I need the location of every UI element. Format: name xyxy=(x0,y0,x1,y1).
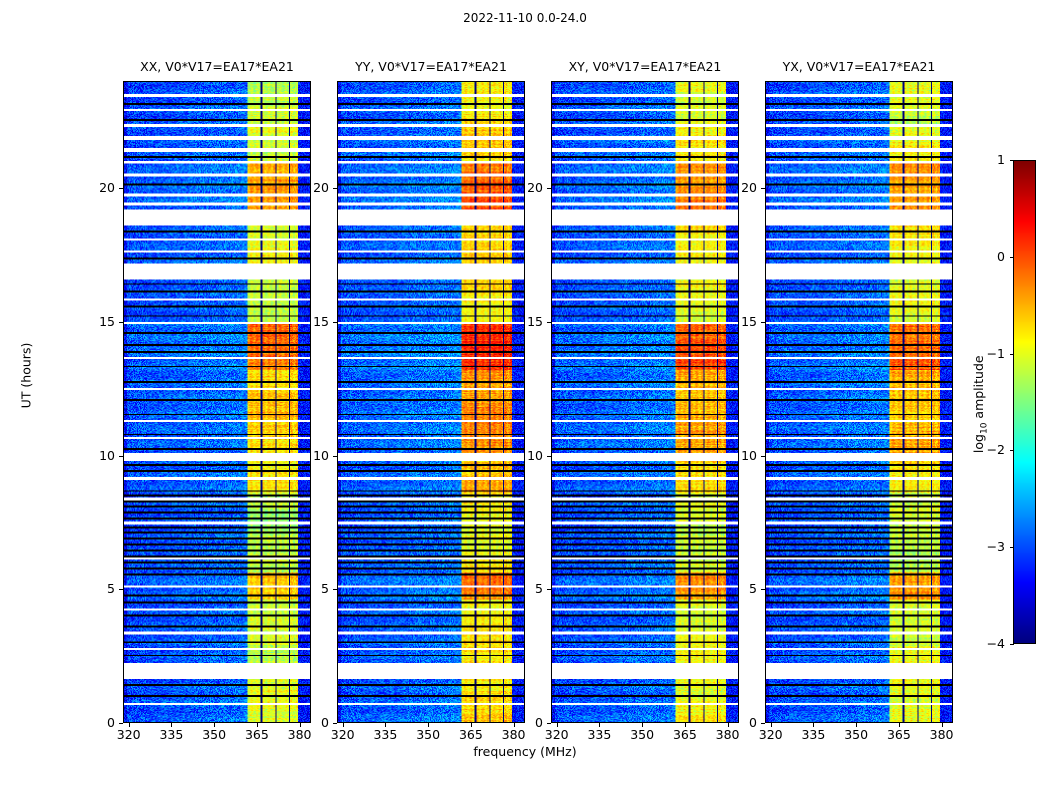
x-tick-label: 335 xyxy=(579,727,619,742)
y-tick-label: 20 xyxy=(507,180,543,195)
y-tick-label: 5 xyxy=(507,581,543,596)
y-tick-label: 10 xyxy=(721,448,757,463)
y-tickmark xyxy=(119,188,123,189)
colorbar-tick-label: −3 xyxy=(975,539,1005,554)
y-tickmark xyxy=(119,322,123,323)
y-tick-label: 0 xyxy=(79,715,115,730)
waterfall-panel-xx[interactable] xyxy=(123,81,311,723)
waterfall-panel-yy[interactable] xyxy=(337,81,525,723)
colorbar-tick-label: −4 xyxy=(975,636,1005,651)
x-tick-label: 350 xyxy=(836,727,876,742)
y-tick-label: 15 xyxy=(79,314,115,329)
colorbar-tickmark xyxy=(1010,644,1014,645)
colorbar-tickmark xyxy=(1010,354,1014,355)
y-tick-label: 5 xyxy=(721,581,757,596)
x-tick-label: 365 xyxy=(665,727,705,742)
colorbar-tick-label: 0 xyxy=(975,249,1005,264)
y-tick-label: 0 xyxy=(293,715,329,730)
y-tick-label: 5 xyxy=(79,581,115,596)
colorbar-tick-label: −2 xyxy=(975,442,1005,457)
x-tick-label: 335 xyxy=(793,727,833,742)
y-tickmark xyxy=(761,322,765,323)
waterfall-panel-xy[interactable] xyxy=(551,81,739,723)
x-tick-label: 335 xyxy=(151,727,191,742)
waterfall-image-yx xyxy=(766,82,952,722)
colorbar-tickmark xyxy=(1010,547,1014,548)
panel-title-yx: YX, V0*V17=EA17*EA21 xyxy=(765,59,953,74)
y-tickmark xyxy=(119,456,123,457)
y-tickmark xyxy=(761,723,765,724)
y-tickmark xyxy=(333,723,337,724)
colorbar-tick-label: −1 xyxy=(975,346,1005,361)
panel-title-xy: XY, V0*V17=EA17*EA21 xyxy=(551,59,739,74)
y-tick-label: 20 xyxy=(293,180,329,195)
y-tick-label: 20 xyxy=(721,180,757,195)
y-tickmark xyxy=(547,456,551,457)
x-tick-label: 365 xyxy=(879,727,919,742)
y-tickmark xyxy=(333,589,337,590)
figure-canvas: 2022-11-10 0.0-24.0 XX, V0*V17=EA17*EA21… xyxy=(0,0,1050,800)
y-tick-label: 15 xyxy=(293,314,329,329)
y-tickmark xyxy=(547,188,551,189)
waterfall-image-xy xyxy=(552,82,738,722)
y-tickmark xyxy=(119,723,123,724)
y-tick-label: 10 xyxy=(79,448,115,463)
y-tickmark xyxy=(333,188,337,189)
colorbar-gradient xyxy=(1014,161,1035,643)
colorbar[interactable] xyxy=(1013,160,1036,644)
x-axis-label: frequency (MHz) xyxy=(0,744,1050,759)
x-tick-label: 365 xyxy=(451,727,491,742)
waterfall-image-yy xyxy=(338,82,524,722)
waterfall-image-xx xyxy=(124,82,310,722)
x-tick-label: 350 xyxy=(194,727,234,742)
colorbar-tickmark xyxy=(1010,160,1014,161)
y-tickmark xyxy=(547,723,551,724)
y-tick-label: 0 xyxy=(507,715,543,730)
y-tickmark xyxy=(761,188,765,189)
panel-title-yy: YY, V0*V17=EA17*EA21 xyxy=(337,59,525,74)
x-tick-label: 335 xyxy=(365,727,405,742)
waterfall-panel-yx[interactable] xyxy=(765,81,953,723)
y-tick-label: 15 xyxy=(721,314,757,329)
y-tick-label: 15 xyxy=(507,314,543,329)
y-tickmark xyxy=(547,589,551,590)
y-tick-label: 20 xyxy=(79,180,115,195)
x-tick-label: 350 xyxy=(408,727,448,742)
y-tickmark xyxy=(119,589,123,590)
y-tick-label: 0 xyxy=(721,715,757,730)
x-tick-label: 380 xyxy=(922,727,962,742)
x-tick-label: 365 xyxy=(237,727,277,742)
y-tick-label: 10 xyxy=(293,448,329,463)
y-tick-label: 10 xyxy=(507,448,543,463)
y-tickmark xyxy=(761,589,765,590)
x-tick-label: 350 xyxy=(622,727,662,742)
y-tickmark xyxy=(547,322,551,323)
y-tickmark xyxy=(761,456,765,457)
y-axis-label: UT (hours) xyxy=(19,306,34,446)
figure-suptitle: 2022-11-10 0.0-24.0 xyxy=(0,11,1050,25)
panel-title-xx: XX, V0*V17=EA17*EA21 xyxy=(123,59,311,74)
y-tickmark xyxy=(333,322,337,323)
colorbar-tick-label: 1 xyxy=(975,152,1005,167)
y-tickmark xyxy=(333,456,337,457)
y-tick-label: 5 xyxy=(293,581,329,596)
colorbar-tickmark xyxy=(1010,450,1014,451)
colorbar-tickmark xyxy=(1010,257,1014,258)
